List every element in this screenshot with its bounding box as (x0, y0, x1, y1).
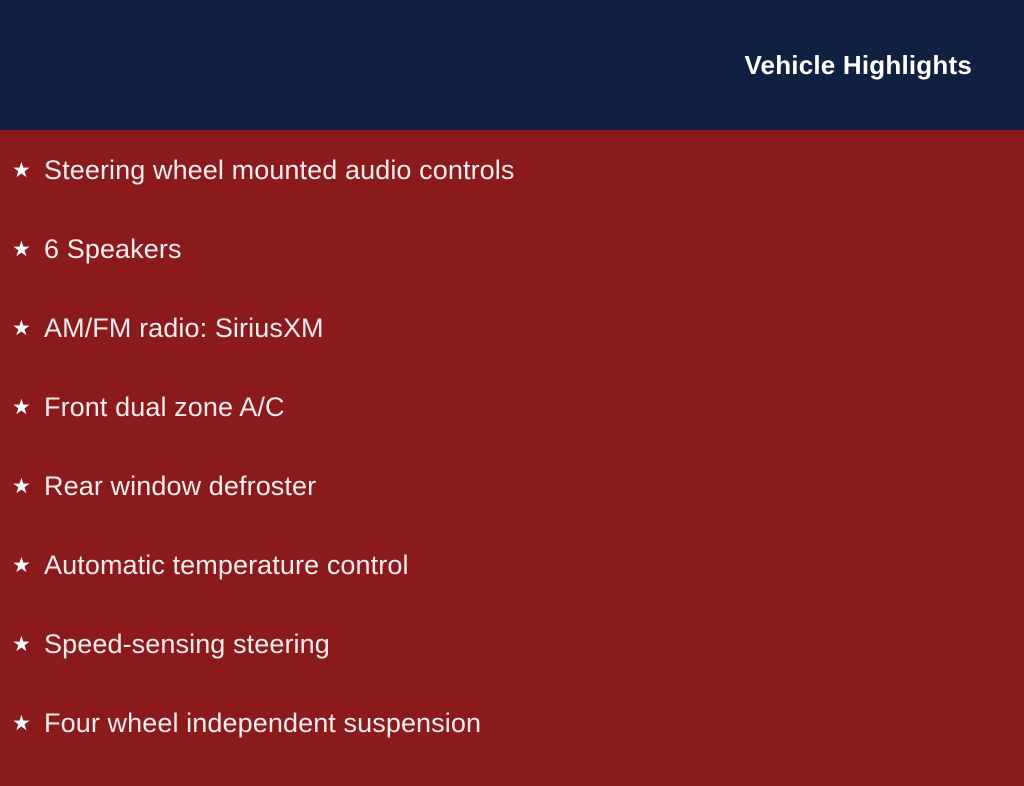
feature-label: Rear window defroster (44, 470, 1000, 502)
vehicle-features-list: ★ Steering wheel mounted audio controls … (12, 154, 1000, 786)
page-title: Vehicle Highlights (744, 51, 972, 80)
star-icon: ★ (12, 234, 44, 266)
feature-label: Front dual zone A/C (44, 391, 1000, 423)
star-icon: ★ (12, 313, 44, 345)
star-icon: ★ (12, 155, 44, 187)
list-item: ★ Speed-sensing steering (12, 628, 1000, 707)
feature-label: Speed-sensing steering (44, 628, 1000, 660)
slide-body: ★ Steering wheel mounted audio controls … (0, 130, 1024, 786)
list-item: ★ 6 Speakers (12, 233, 1000, 312)
list-item: ★ AM/FM radio: SiriusXM (12, 312, 1000, 391)
feature-label: 6 Speakers (44, 233, 1000, 265)
list-item: ★ Front dual zone A/C (12, 391, 1000, 470)
feature-label: AM/FM radio: SiriusXM (44, 312, 1000, 344)
list-item: ★ Four wheel independent suspension (12, 707, 1000, 786)
feature-label: Steering wheel mounted audio controls (44, 154, 1000, 186)
list-item: ★ Steering wheel mounted audio controls (12, 154, 1000, 233)
feature-label: Four wheel independent suspension (44, 707, 1000, 739)
feature-label: Automatic temperature control (44, 549, 1000, 581)
list-item: ★ Rear window defroster (12, 470, 1000, 549)
star-icon: ★ (12, 708, 44, 740)
list-item: ★ Automatic temperature control (12, 549, 1000, 628)
star-icon: ★ (12, 629, 44, 661)
star-icon: ★ (12, 550, 44, 582)
slide-header: Vehicle Highlights (0, 0, 1024, 130)
vehicle-highlights-slide: Vehicle Highlights ★ Steering wheel moun… (0, 0, 1024, 768)
star-icon: ★ (12, 471, 44, 503)
star-icon: ★ (12, 392, 44, 424)
